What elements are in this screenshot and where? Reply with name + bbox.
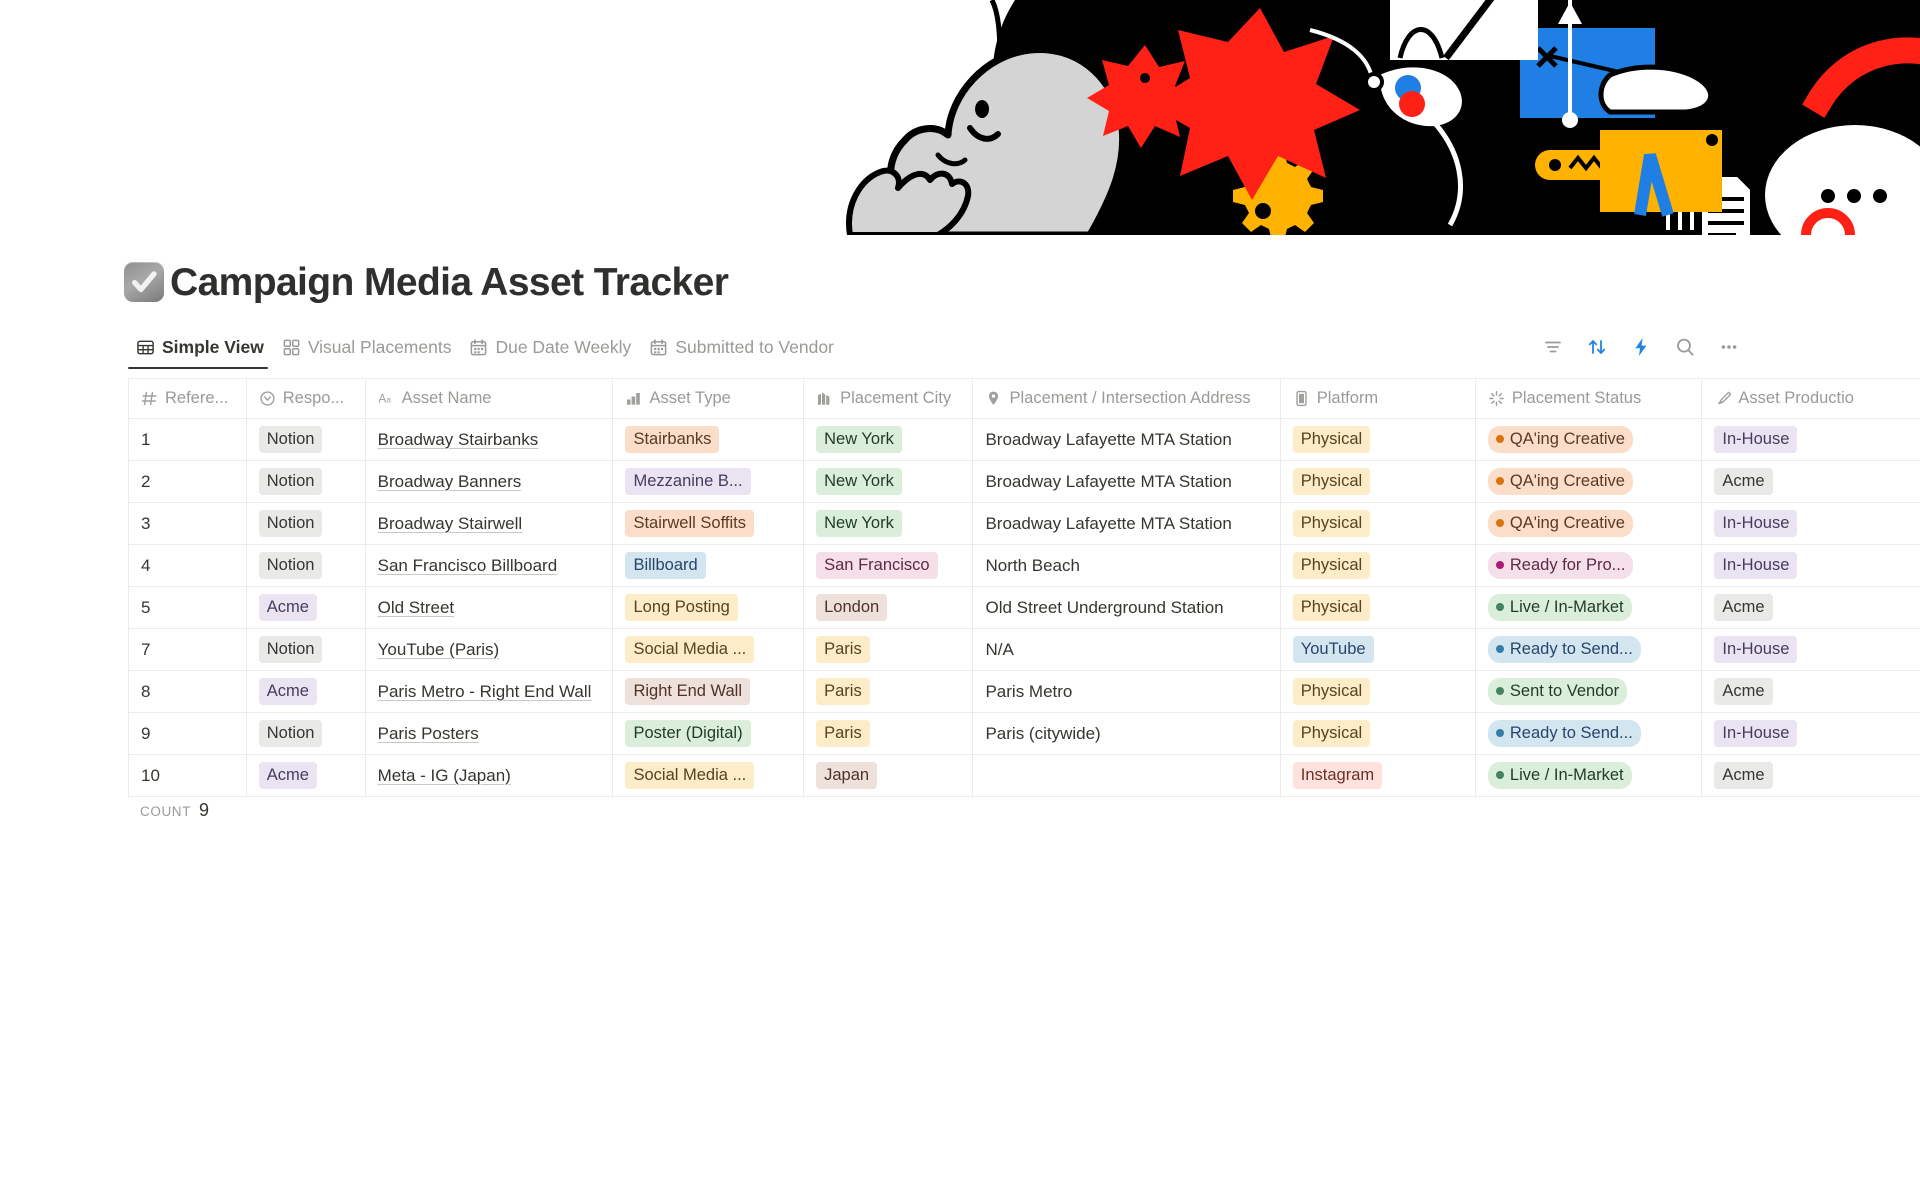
status-dot-icon [1496,477,1504,485]
pill-label: QA'ing Creative [1510,470,1625,492]
column-header-asset-production[interactable]: Asset Productio [1702,379,1920,419]
pill: Long Posting [625,594,737,621]
cell-reference[interactable]: 4 [129,545,247,587]
pill: Paris [816,636,870,663]
calendar-icon [469,338,488,357]
status-dot-icon [1496,519,1504,527]
cell-asset-type[interactable]: Stairbanks [613,419,804,461]
pill: In-House [1714,426,1797,453]
pill: Mezzanine B... [625,468,750,495]
cell-reference[interactable]: 2 [129,461,247,503]
pill: Physical [1293,510,1370,537]
pill: Paris [816,678,870,705]
pill: New York [816,510,902,537]
database-table: Refere... Respo... [128,378,1920,797]
pill: Physical [1293,552,1370,579]
tab-due-date-weekly[interactable]: Due Date Weekly [461,335,641,369]
cover-illustration [820,0,1920,235]
status-dot-icon [1496,561,1504,569]
pill: Acme [1714,762,1772,789]
pill: Paris [816,720,870,747]
cell-placement-city[interactable]: New York [804,461,973,503]
pill: Physical [1293,468,1370,495]
status-dot-icon [1496,645,1504,653]
cell-platform[interactable]: Physical [1280,671,1475,713]
calendar-icon [649,338,668,357]
filter-icon[interactable] [1542,336,1564,358]
status-dot-icon [1496,771,1504,779]
pill: Acme [259,762,317,789]
table-body: 1NotionBroadway StairbanksStairbanksNew … [129,419,1920,797]
cell-placement-city[interactable]: San Francisco [804,545,973,587]
cell-asset-name[interactable]: Broadway Stairwell [365,503,613,545]
cell-platform[interactable]: Physical [1280,713,1475,755]
cell-address[interactable]: N/A [973,629,1280,671]
pill-label: Ready for Pro... [1510,554,1626,576]
cell-placement-city[interactable]: Paris [804,671,973,713]
cell-asset-name[interactable]: YouTube (Paris) [365,629,613,671]
cell-placement-status[interactable]: QA'ing Creative [1475,419,1702,461]
pill: Live / In-Market [1488,594,1632,621]
pill: In-House [1714,510,1797,537]
pill: New York [816,468,902,495]
cell-placement-status[interactable]: Ready for Pro... [1475,545,1702,587]
tab-label: Submitted to Vendor [675,337,834,358]
pill: Physical [1293,594,1370,621]
table-row[interactable]: 2NotionBroadway BannersMezzanine B...New… [129,461,1920,503]
cell-responsible[interactable]: Notion [246,545,365,587]
pill: QA'ing Creative [1488,468,1633,495]
status-dot-icon [1496,687,1504,695]
table-row[interactable]: 1NotionBroadway StairbanksStairbanksNew … [129,419,1920,461]
column-header-responsible[interactable]: Respo... [246,379,365,419]
automation-icon[interactable] [1630,336,1652,358]
cell-placement-city[interactable]: Paris [804,629,973,671]
cell-responsible[interactable]: Notion [246,629,365,671]
more-icon[interactable] [1718,336,1740,358]
tab-label: Simple View [162,337,264,358]
table-row[interactable]: 8AcmeParis Metro - Right End WallRight E… [129,671,1920,713]
cell-asset-name[interactable]: Broadway Stairbanks [365,419,613,461]
cell-asset-production[interactable]: In-House [1702,419,1920,461]
cell-responsible[interactable]: Acme [246,587,365,629]
asset-name-link[interactable]: Paris Metro - Right End Wall [378,682,592,701]
cell-address[interactable]: Broadway Lafayette MTA Station [973,503,1280,545]
pill: San Francisco [816,552,937,579]
column-label: Respo... [283,389,344,408]
pill: Ready for Pro... [1488,552,1634,579]
cell-reference[interactable]: 7 [129,629,247,671]
table-row[interactable]: 10AcmeMeta - IG (Japan)Social Media ...J… [129,755,1920,797]
view-tabs: Simple View Visual Placements Due Date W… [128,335,844,369]
table-row[interactable]: 9NotionParis PostersPoster (Digital)Pari… [129,713,1920,755]
count-label: Count [140,804,191,819]
page-title: Campaign Media Asset Tracker [170,263,728,302]
pill: Right End Wall [625,678,750,705]
column-label: Platform [1317,389,1378,408]
column-header-reference[interactable]: Refere... [129,379,247,419]
column-label: Asset Productio [1738,389,1854,408]
cell-placement-city[interactable]: Japan [804,755,973,797]
pill: Stairwell Soffits [625,510,754,537]
cell-platform[interactable]: Physical [1280,545,1475,587]
cell-address[interactable] [973,755,1280,797]
tab-label: Due Date Weekly [495,337,631,358]
select-icon [259,390,276,407]
pill: Ready to Send... [1488,636,1641,663]
pill: QA'ing Creative [1488,426,1633,453]
cell-platform[interactable]: Physical [1280,461,1475,503]
pill: London [816,594,887,621]
cell-asset-name[interactable]: Meta - IG (Japan) [365,755,613,797]
page-title-row: Campaign Media Asset Tracker [124,262,728,302]
asset-name-link[interactable]: San Francisco Billboard [378,556,558,575]
column-header-placement-address[interactable]: Placement / Intersection Address [973,379,1280,419]
table-icon [136,338,155,357]
cell-asset-name[interactable]: Broadway Banners [365,461,613,503]
column-header-placement-city[interactable]: Placement City [804,379,973,419]
search-icon[interactable] [1674,336,1696,358]
cell-reference[interactable]: 8 [129,671,247,713]
cell-platform[interactable]: Physical [1280,587,1475,629]
asset-name-link[interactable]: Broadway Stairwell [378,514,523,533]
bar-chart-icon [625,390,642,407]
pill-label: Ready to Send... [1510,722,1633,744]
column-header-placement-status[interactable]: Placement Status [1475,379,1702,419]
count-value: 9 [199,800,209,821]
pill: Notion [259,552,323,579]
cell-asset-name[interactable]: San Francisco Billboard [365,545,613,587]
pill: Acme [259,594,317,621]
gallery-icon [282,338,301,357]
asset-name-link[interactable]: Paris Posters [378,724,479,743]
pill: Live / In-Market [1488,762,1632,789]
pill: In-House [1714,636,1797,663]
pill: YouTube [1293,636,1374,663]
cell-address[interactable]: Broadway Lafayette MTA Station [973,461,1280,503]
pill: Notion [259,468,323,495]
pill: Acme [259,678,317,705]
cell-responsible[interactable]: Notion [246,461,365,503]
pill: Notion [259,720,323,747]
table-header-row: Refere... Respo... [129,379,1920,419]
pill: Ready to Send... [1488,720,1641,747]
cell-placement-status[interactable]: Ready to Send... [1475,713,1702,755]
cell-responsible[interactable]: Acme [246,671,365,713]
cell-placement-city[interactable]: London [804,587,973,629]
pill: New York [816,426,902,453]
pill: In-House [1714,720,1797,747]
cell-asset-name[interactable]: Old Street [365,587,613,629]
title-icon: Aa [378,390,395,407]
cell-reference[interactable]: 1 [129,419,247,461]
cell-platform[interactable]: Physical [1280,503,1475,545]
svg-text:a: a [386,395,391,405]
notion-page: Campaign Media Asset Tracker Simple View… [0,0,1920,1199]
cell-asset-type[interactable]: Right End Wall [613,671,804,713]
cell-asset-production[interactable]: In-House [1702,503,1920,545]
cell-asset-name[interactable]: Paris Metro - Right End Wall [365,671,613,713]
count-footer[interactable]: Count 9 [140,800,209,821]
cell-placement-status[interactable]: Ready to Send... [1475,629,1702,671]
pill: Social Media ... [625,762,754,789]
pill: Poster (Digital) [625,720,750,747]
pill: Notion [259,426,323,453]
cell-reference[interactable]: 3 [129,503,247,545]
cell-placement-status[interactable]: QA'ing Creative [1475,461,1702,503]
pill-label: QA'ing Creative [1510,512,1625,534]
pill-label: Ready to Send... [1510,638,1633,660]
pill-label: Live / In-Market [1510,764,1624,786]
cell-asset-production[interactable]: Acme [1702,755,1920,797]
cell-responsible[interactable]: Notion [246,419,365,461]
column-label: Asset Name [402,389,492,408]
column-label: Placement City [840,389,951,408]
pill: Instagram [1293,762,1382,789]
pill: QA'ing Creative [1488,510,1633,537]
pill: Japan [816,762,877,789]
cell-reference[interactable]: 9 [129,713,247,755]
cell-placement-status[interactable]: Live / In-Market [1475,587,1702,629]
table-row[interactable]: 4NotionSan Francisco BillboardBillboardS… [129,545,1920,587]
cell-address[interactable]: Paris Metro [973,671,1280,713]
spinner-icon [1488,390,1505,407]
cell-placement-status[interactable]: Live / In-Market [1475,755,1702,797]
view-tab-bar: Simple View Visual Placements Due Date W… [128,335,1828,369]
cell-asset-type[interactable]: Mezzanine B... [613,461,804,503]
cell-responsible[interactable]: Notion [246,503,365,545]
pill: Billboard [625,552,705,579]
pill-label: Sent to Vendor [1510,680,1619,702]
cell-asset-production[interactable]: In-House [1702,713,1920,755]
column-label: Refere... [165,389,228,408]
pill: Physical [1293,720,1370,747]
device-icon [1293,390,1310,407]
cell-address[interactable]: North Beach [973,545,1280,587]
tab-simple-view[interactable]: Simple View [128,335,274,369]
pill: Acme [1714,594,1772,621]
cell-asset-production[interactable]: Acme [1702,461,1920,503]
cell-asset-production[interactable]: Acme [1702,671,1920,713]
cell-responsible[interactable]: Acme [246,755,365,797]
sort-icon[interactable] [1586,336,1608,358]
pill: Sent to Vendor [1488,678,1627,705]
cell-asset-type[interactable]: Long Posting [613,587,804,629]
cell-asset-production[interactable]: Acme [1702,587,1920,629]
cell-placement-city[interactable]: New York [804,503,973,545]
white-heavy-check-mark-icon [124,262,164,302]
pill-label: QA'ing Creative [1510,428,1625,450]
asset-name-link[interactable]: Meta - IG (Japan) [378,766,511,785]
tab-label: Visual Placements [308,337,452,358]
pill: Physical [1293,678,1370,705]
cell-address[interactable]: Old Street Underground Station [973,587,1280,629]
cell-placement-status[interactable]: QA'ing Creative [1475,503,1702,545]
cell-placement-city[interactable]: New York [804,419,973,461]
city-icon [816,390,833,407]
pill: Acme [1714,468,1772,495]
pill: Notion [259,636,323,663]
status-dot-icon [1496,729,1504,737]
cell-platform[interactable]: Instagram [1280,755,1475,797]
status-dot-icon [1496,435,1504,443]
cell-placement-city[interactable]: Paris [804,713,973,755]
cell-asset-type[interactable]: Billboard [613,545,804,587]
column-label: Placement / Intersection Address [1009,389,1250,408]
pill: Notion [259,510,323,537]
cell-reference[interactable]: 5 [129,587,247,629]
pill: Social Media ... [625,636,754,663]
column-header-platform[interactable]: Platform [1280,379,1475,419]
column-header-asset-type[interactable]: Asset Type [613,379,804,419]
cell-asset-type[interactable]: Stairwell Soffits [613,503,804,545]
asset-name-link[interactable]: Old Street [378,598,455,617]
cell-placement-status[interactable]: Sent to Vendor [1475,671,1702,713]
pill: Acme [1714,678,1772,705]
table-row[interactable]: 5AcmeOld StreetLong PostingLondonOld Str… [129,587,1920,629]
tab-visual-placements[interactable]: Visual Placements [274,335,462,369]
cell-platform[interactable]: YouTube [1280,629,1475,671]
cover-image [820,0,1920,235]
cell-address[interactable]: Broadway Lafayette MTA Station [973,419,1280,461]
cell-asset-name[interactable]: Paris Posters [365,713,613,755]
cell-asset-type[interactable]: Social Media ... [613,629,804,671]
asset-name-link[interactable]: YouTube (Paris) [378,640,500,659]
column-label: Placement Status [1512,389,1641,408]
pill-label: Live / In-Market [1510,596,1624,618]
asset-name-link[interactable]: Broadway Banners [378,472,522,491]
number-icon [141,390,158,407]
brush-icon [1714,390,1731,407]
cell-asset-production[interactable]: In-House [1702,545,1920,587]
column-header-asset-name[interactable]: Aa Asset Name [365,379,613,419]
cell-reference[interactable]: 10 [129,755,247,797]
tab-submitted-to-vendor[interactable]: Submitted to Vendor [641,335,844,369]
status-dot-icon [1496,603,1504,611]
pill: Physical [1293,426,1370,453]
pill: In-House [1714,552,1797,579]
column-label: Asset Type [649,389,730,408]
cell-asset-type[interactable]: Poster (Digital) [613,713,804,755]
cell-responsible[interactable]: Notion [246,713,365,755]
view-toolbar [1542,336,1828,368]
cell-asset-type[interactable]: Social Media ... [613,755,804,797]
table-row[interactable]: 7NotionYouTube (Paris)Social Media ...Pa… [129,629,1920,671]
map-pin-icon [985,390,1002,407]
cell-address[interactable]: Paris (citywide) [973,713,1280,755]
pill: Stairbanks [625,426,719,453]
cell-asset-production[interactable]: In-House [1702,629,1920,671]
cell-platform[interactable]: Physical [1280,419,1475,461]
table-row[interactable]: 3NotionBroadway StairwellStairwell Soffi… [129,503,1920,545]
asset-name-link[interactable]: Broadway Stairbanks [378,430,539,449]
